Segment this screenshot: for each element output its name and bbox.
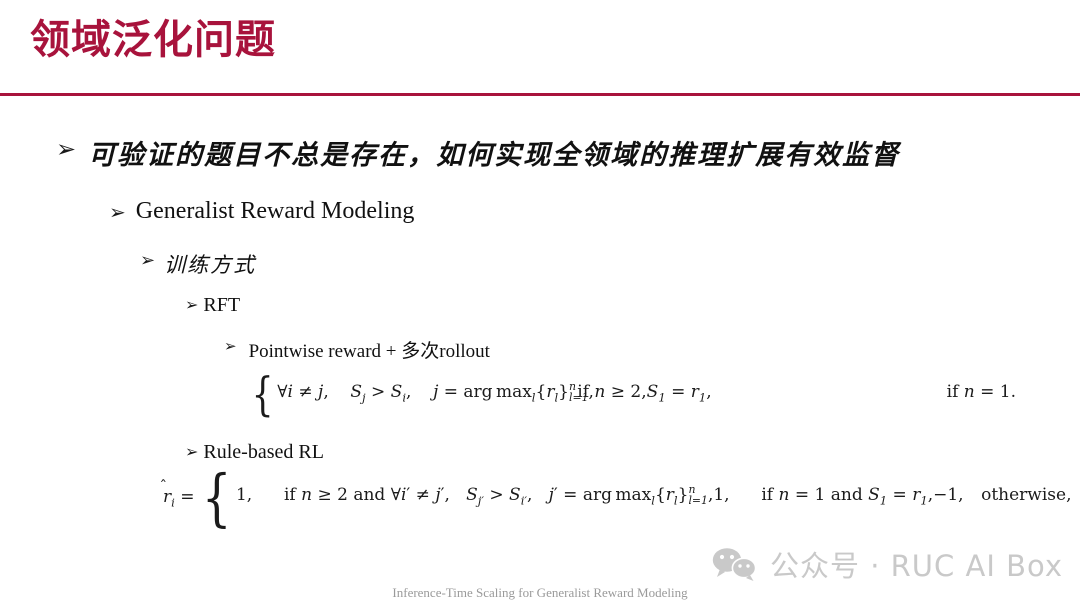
watermark: 公众号 · RUC AI Box: [712, 543, 1063, 585]
bullet-arrow-icon: ➢: [224, 339, 237, 354]
bullet-arrow-icon: ➢: [185, 297, 198, 313]
formula-rft-row-body: ∀i ≠ j, Sj > Si, j = arg maxl{rl}nl=1,: [277, 380, 577, 409]
bullet-arrow-icon: ➢: [140, 252, 155, 270]
formula-rft-row-condition: if n ≥ 2,: [577, 382, 646, 402]
bullet-level4-rft-label: RFT: [203, 294, 240, 317]
formula-rl-rows: 1,if n ≥ 2 and ∀i′ ≠ j′, Sj′ > Si′, j′ =…: [236, 482, 1072, 513]
formula-rft-row-body: S1 = r1,: [647, 380, 947, 409]
formula-rl-row-condition: if n ≥ 2 and ∀i′ ≠ j′, Sj′ > Si′, j′ = a…: [284, 485, 713, 505]
formula-brace-icon: {: [252, 374, 274, 415]
formula-rl-row-condition: otherwise,: [981, 485, 1071, 505]
formula-rl-row-value: −1,: [933, 482, 981, 508]
formula-rft: {∀i ≠ j, Sj > Si, j = arg maxl{rl}nl=1,i…: [248, 374, 1016, 415]
bullet-level3-label: 训练方式: [164, 249, 256, 279]
bullet-arrow-icon: ➢: [56, 137, 76, 161]
bullet-arrow-icon: ➢: [109, 202, 126, 222]
formula-rl-lhs: ̂ri =: [163, 487, 195, 509]
page-title: 领域泛化问题: [30, 16, 276, 64]
formula-brace-icon: {: [201, 470, 231, 526]
formula-rft-rows: ∀i ≠ j, Sj > Si, j = arg maxl{rl}nl=1,if…: [277, 380, 1016, 409]
formula-rl-row: −1,otherwise,: [933, 485, 1071, 505]
formula-rl-row: 1,if n ≥ 2 and ∀i′ ≠ j′, Sj′ > Si′, j′ =…: [236, 485, 713, 505]
bullet-level4-rft: ➢ RFT: [185, 294, 240, 317]
formula-rft-row: ∀i ≠ j, Sj > Si, j = arg maxl{rl}nl=1,if…: [277, 382, 646, 402]
title-divider: [0, 93, 1080, 96]
bullet-level1-label: 可验证的题目不总是存在，如何实现全领域的推理扩展有效监督: [88, 133, 900, 172]
bullet-level5-pointwise: ➢ Pointwise reward + 多次rollout: [224, 336, 490, 363]
formula-rl-row-value: 1,: [713, 482, 761, 508]
formula-rl-row-value: 1,: [236, 482, 284, 508]
bullet-arrow-icon: ➢: [185, 444, 198, 460]
formula-rft-row: S1 = r1,if n = 1.: [647, 382, 1016, 402]
formula-rft-row-condition: if n = 1.: [947, 382, 1016, 402]
formula-rl-row-condition: if n = 1 and S1 = r1,: [761, 485, 933, 505]
formula-rule-based-rl: ̂ri = {1,if n ≥ 2 and ∀i′ ≠ j′, Sj′ > Si…: [163, 470, 1071, 526]
watermark-label: 公众号 · RUC AI Box: [770, 543, 1063, 585]
formula-rl-row: 1,if n = 1 and S1 = r1,: [713, 485, 933, 505]
bullet-level3: ➢ 训练方式: [140, 249, 256, 279]
wechat-icon: [712, 547, 758, 581]
bullet-level1: ➢ 可验证的题目不总是存在，如何实现全领域的推理扩展有效监督: [56, 133, 900, 172]
bullet-level2: ➢ Generalist Reward Modeling: [109, 198, 414, 225]
bullet-level2-label: Generalist Reward Modeling: [136, 198, 415, 225]
bullet-level5-pointwise-label: Pointwise reward + 多次rollout: [249, 336, 490, 363]
footer-note: Inference-Time Scaling for Generalist Re…: [0, 585, 1080, 601]
